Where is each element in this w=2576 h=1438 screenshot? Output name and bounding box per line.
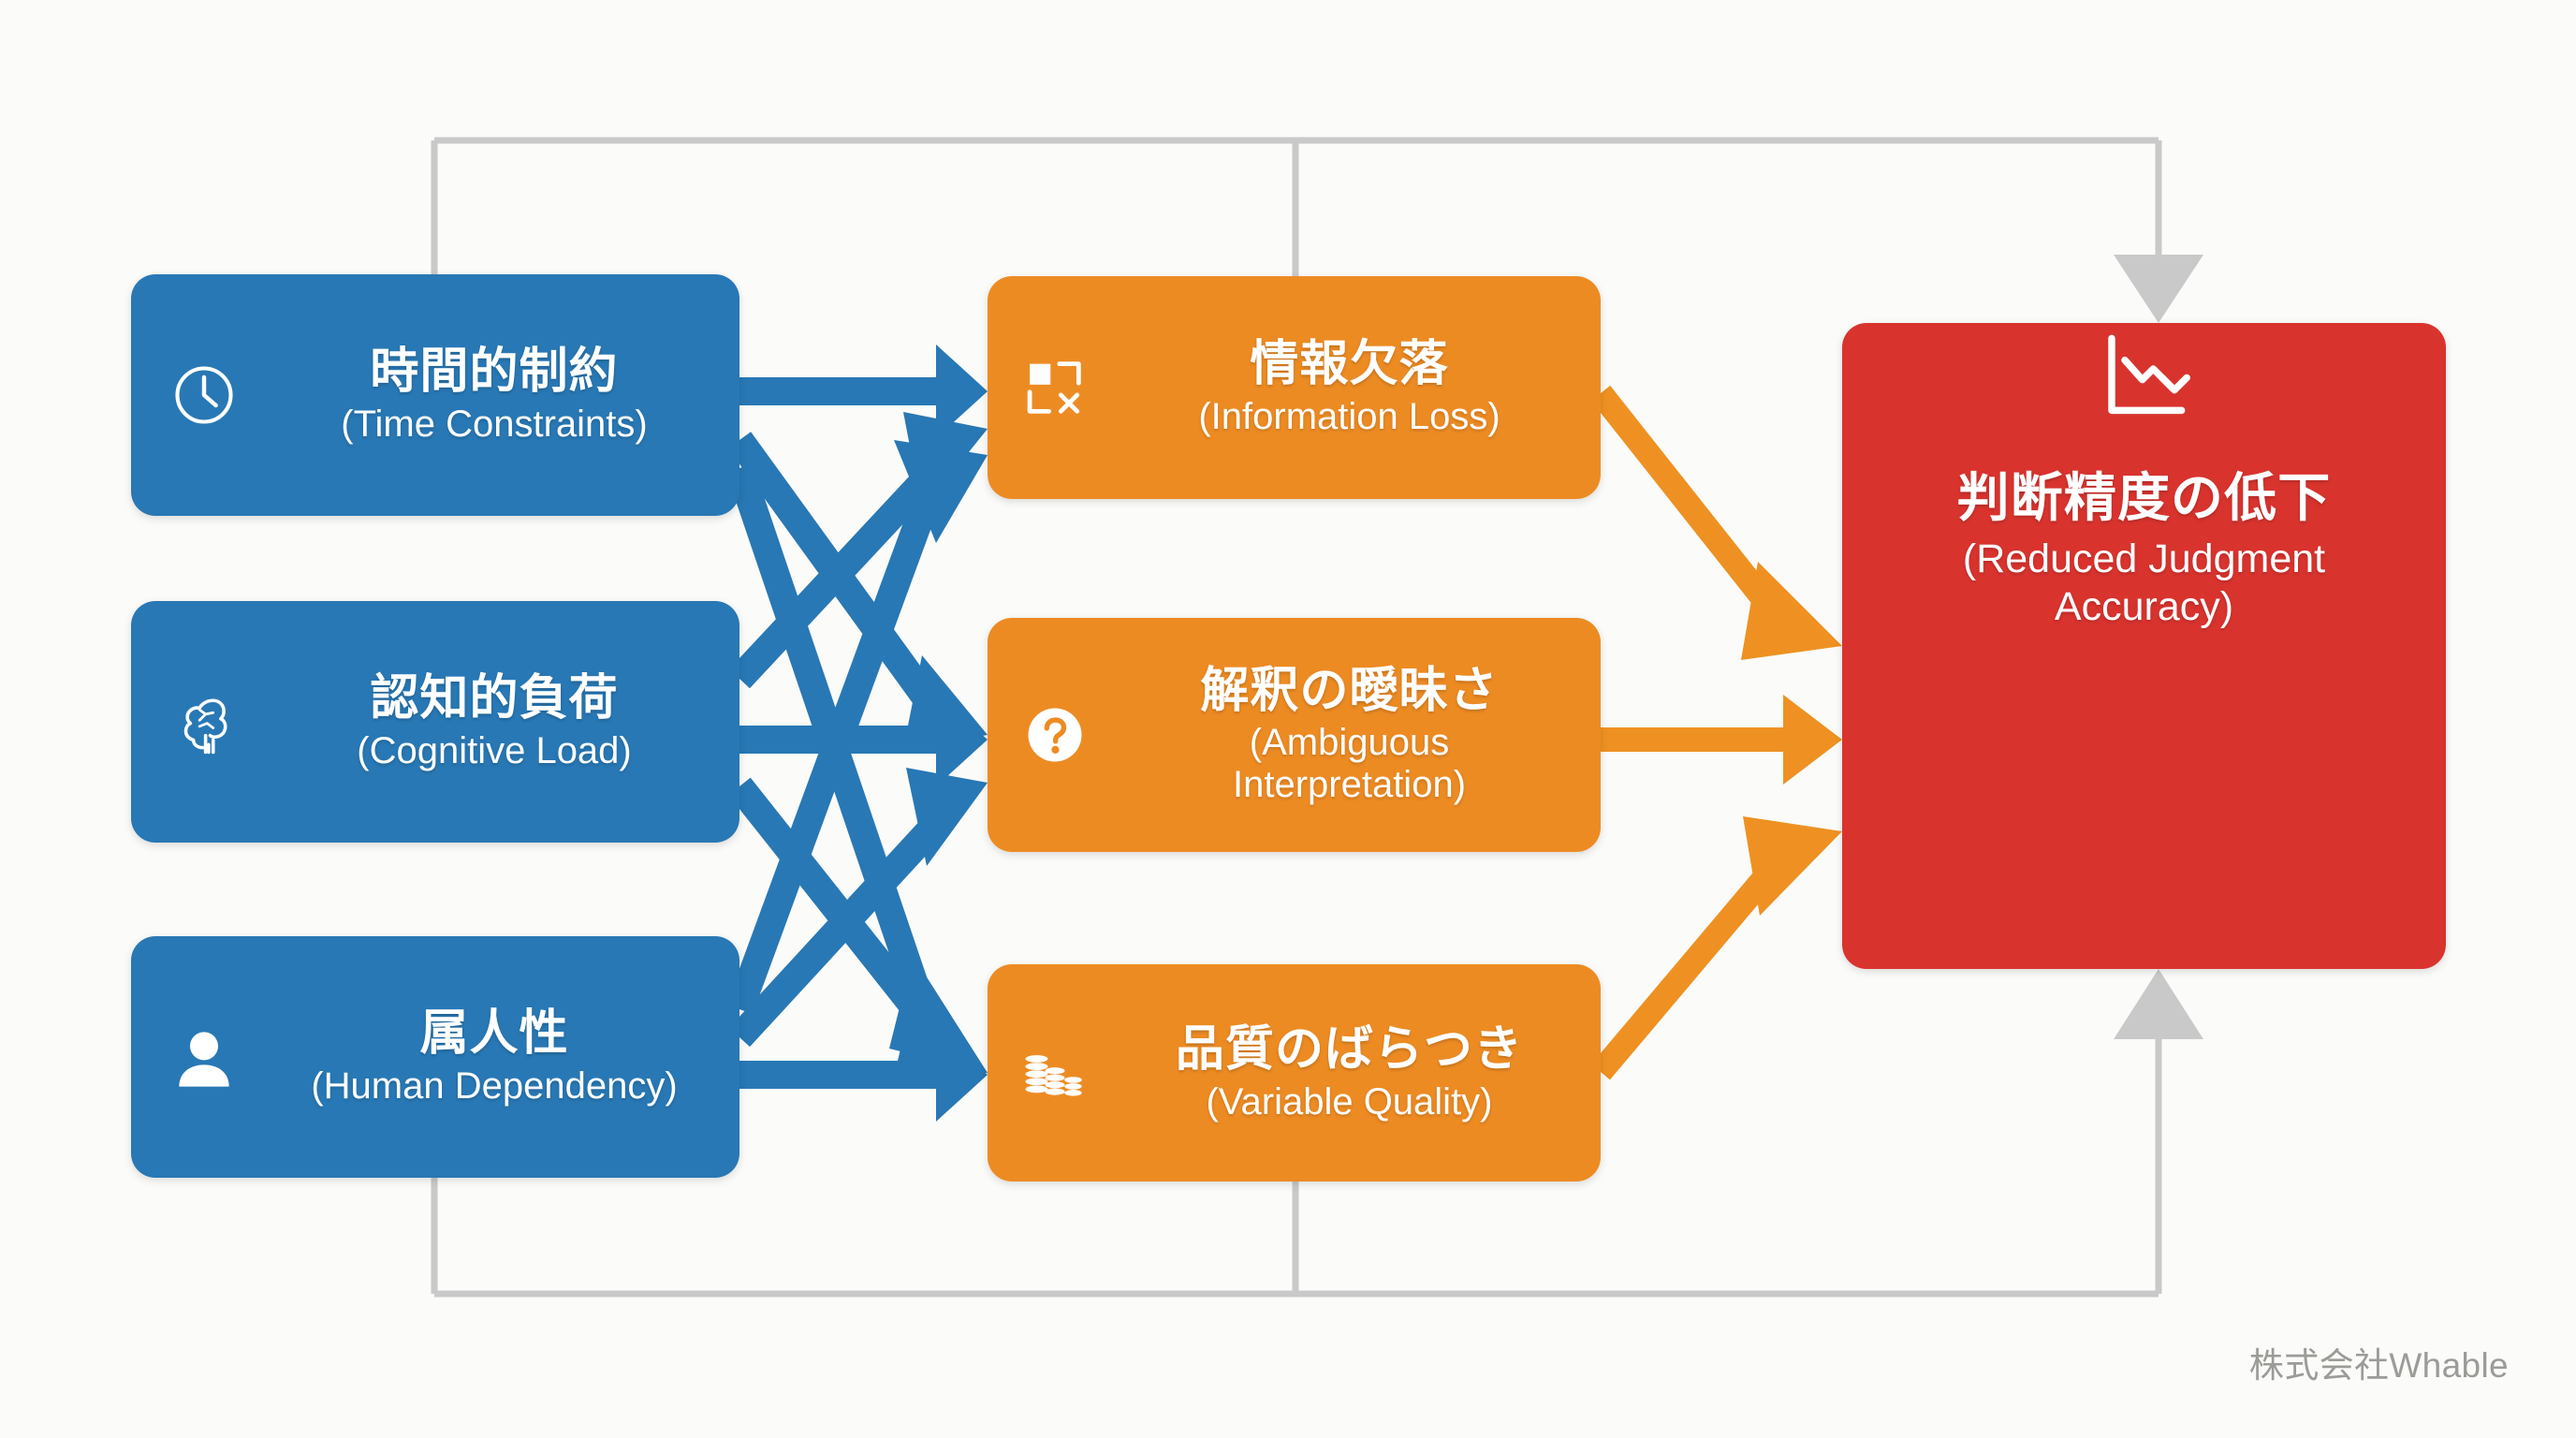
brain-icon xyxy=(152,685,256,758)
node-labels: 判断精度の低下 (Reduced Judgment Accuracy) xyxy=(1957,469,2332,969)
question-mark-icon xyxy=(1004,699,1105,770)
node-labels: 情報欠落 (Information Loss) xyxy=(1105,337,1601,437)
node-title-jp: 品質のばらつき xyxy=(1105,1022,1593,1077)
node-title-en: (Cognitive Load) xyxy=(256,730,732,772)
node-title-jp: 認知的負荷 xyxy=(256,671,732,726)
node-title-en: (Variable Quality) xyxy=(1105,1081,1593,1123)
node-ambiguous-interpretation[interactable]: 解釈の曖昧さ (Ambiguous Interpretation) xyxy=(988,618,1601,852)
node-title-en: (Information Loss) xyxy=(1105,396,1593,438)
node-title-en: (Human Dependency) xyxy=(256,1065,732,1108)
node-cognitive-load[interactable]: 認知的負荷 (Cognitive Load) xyxy=(131,601,739,843)
node-title-en: (Ambiguous xyxy=(1105,722,1593,764)
footer-brand: 株式会社Whable xyxy=(2249,1337,2509,1387)
node-title-jp: 時間的制約 xyxy=(256,345,732,399)
node-title-jp: 属人性 xyxy=(256,1006,732,1061)
node-title-en: (Reduced Judgment xyxy=(1957,536,2332,584)
node-labels: 時間的制約 (Time Constraints) xyxy=(256,345,739,445)
node-reduced-judgment-accuracy[interactable]: 判断精度の低下 (Reduced Judgment Accuracy) xyxy=(1842,323,2446,969)
node-labels: 品質のばらつき (Variable Quality) xyxy=(1105,1022,1601,1123)
person-icon xyxy=(152,1020,256,1094)
arrow-variablequality-to-outcome xyxy=(1601,816,1842,1072)
node-title-jp: 情報欠落 xyxy=(1105,337,1593,391)
clock-icon xyxy=(152,359,256,431)
arrow-ambiguity-to-outcome xyxy=(1601,695,1842,785)
missing-data-icon xyxy=(1004,352,1105,423)
stacked-coins-icon xyxy=(1004,1039,1105,1107)
node-human-dependency[interactable]: 属人性 (Human Dependency) xyxy=(131,936,739,1178)
node-title-en-line2: Interpretation) xyxy=(1105,764,1593,806)
diagram-canvas: .blue-stroke { stroke:#2878b5; fill:none… xyxy=(0,0,2576,1438)
node-title-jp: 解釈の曖昧さ xyxy=(1105,664,1593,718)
node-labels: 認知的負荷 (Cognitive Load) xyxy=(256,671,739,771)
node-labels: 解釈の曖昧さ (Ambiguous Interpretation) xyxy=(1105,664,1601,806)
node-labels: 属人性 (Human Dependency) xyxy=(256,1006,739,1107)
node-title-en: (Time Constraints) xyxy=(256,404,732,446)
node-variable-quality[interactable]: 品質のばらつき (Variable Quality) xyxy=(988,964,1601,1181)
node-time-constraints[interactable]: 時間的制約 (Time Constraints) xyxy=(131,274,739,516)
arrow-humandep-to-variablequality xyxy=(739,1028,988,1122)
node-information-loss[interactable]: 情報欠落 (Information Loss) xyxy=(988,276,1601,499)
arrow-infoloss-to-outcome xyxy=(1601,393,1842,660)
node-title-en-line2: Accuracy) xyxy=(1957,583,2332,632)
declining-chart-icon xyxy=(2092,323,2197,428)
node-title-jp: 判断精度の低下 xyxy=(1957,469,2332,528)
